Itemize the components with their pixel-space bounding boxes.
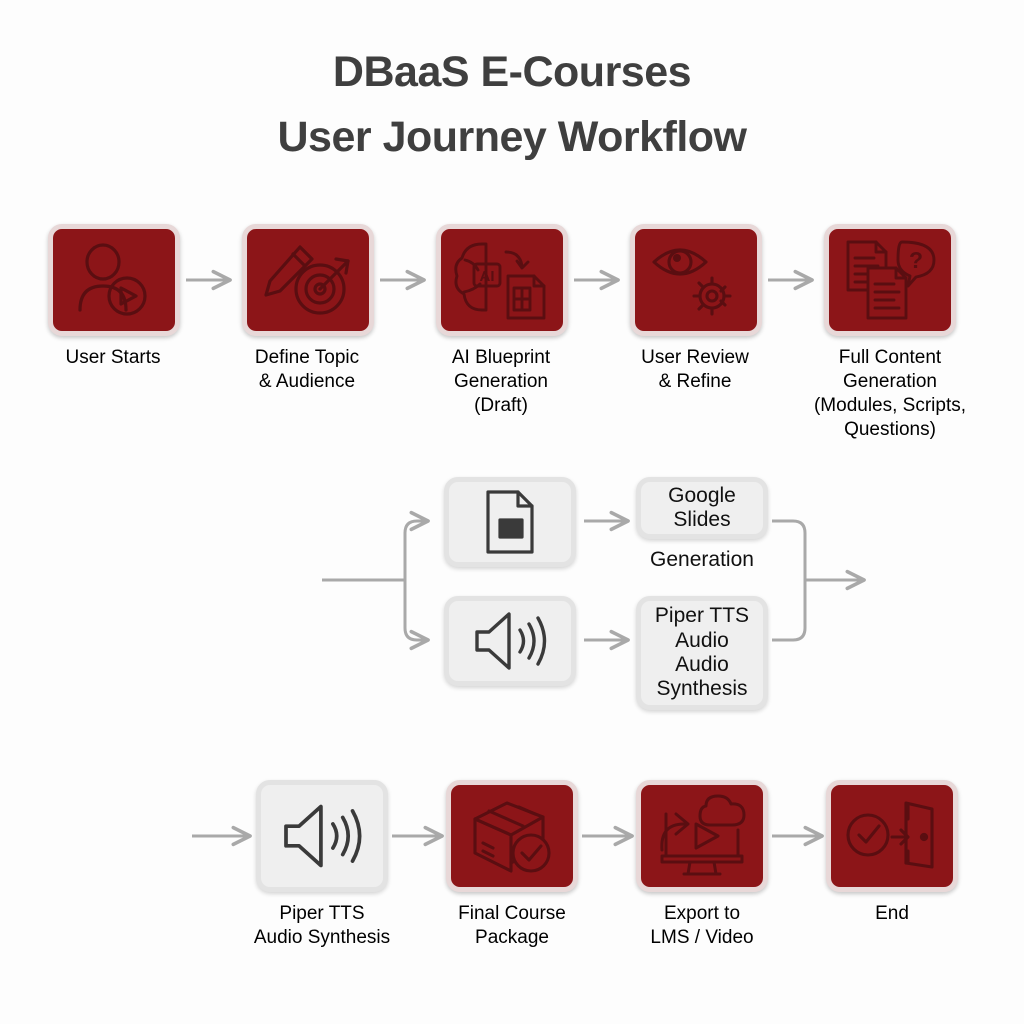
node-user-starts[interactable] xyxy=(48,224,180,336)
node-user-review[interactable] xyxy=(630,224,762,336)
label-piper-tts: Piper TTS Audio Synthesis xyxy=(212,902,432,950)
node-define-topic[interactable] xyxy=(242,224,374,336)
svg-text:?: ? xyxy=(909,247,923,273)
node-final-package[interactable] xyxy=(446,780,578,892)
box-check-icon xyxy=(467,795,557,877)
node-slides-icon[interactable] xyxy=(444,477,576,567)
label-end: End xyxy=(792,902,992,926)
label-piper-tts-audio: Piper TTS Audio Audio Synthesis xyxy=(647,604,757,701)
label-user-starts: User Starts xyxy=(13,346,213,370)
wire-merge xyxy=(772,521,805,640)
label-google-slides: Google Slides xyxy=(647,484,757,533)
label-google-slides-overflow: Generation xyxy=(620,548,784,572)
label-full-content: Full Content Generation (Modules, Script… xyxy=(789,346,991,442)
label-define-topic: Define Topic & Audience xyxy=(207,346,407,394)
user-play-icon xyxy=(70,240,158,320)
node-full-content[interactable]: ? xyxy=(824,224,956,336)
documents-question-icon: ? xyxy=(842,238,938,322)
wire-split-lower xyxy=(405,580,426,640)
node-piper-tts-audio[interactable]: Piper TTS Audio Audio Synthesis xyxy=(636,596,768,710)
monitor-cloud-share-icon xyxy=(654,794,750,878)
pencil-target-icon xyxy=(262,239,354,321)
label-user-review: User Review & Refine xyxy=(595,346,795,394)
check-door-exit-icon xyxy=(846,797,938,875)
node-end[interactable] xyxy=(826,780,958,892)
slides-document-icon xyxy=(480,488,540,556)
node-google-slides[interactable]: Google Slides xyxy=(636,477,768,539)
svg-text:AI: AI xyxy=(480,268,495,285)
speaker-waves-icon xyxy=(279,800,365,872)
label-ai-blueprint: AI Blueprint Generation (Draft) xyxy=(401,346,601,418)
node-audio-icon[interactable] xyxy=(444,596,576,686)
page-title-line2: User Journey Workflow xyxy=(0,113,1024,162)
node-ai-blueprint[interactable]: AI xyxy=(436,224,568,336)
diagram-canvas: DBaaS E-Courses User Journey Workflow xyxy=(0,0,1024,1024)
speaker-waves-icon xyxy=(471,608,549,674)
node-piper-tts[interactable] xyxy=(256,780,388,892)
label-final-package: Final Course Package xyxy=(412,902,612,950)
brain-ai-document-icon: AI xyxy=(452,238,552,322)
page-title-line1: DBaaS E-Courses xyxy=(0,48,1024,97)
node-export-lms[interactable] xyxy=(636,780,768,892)
wire-split-upper xyxy=(405,521,426,580)
eye-gear-icon xyxy=(650,238,742,322)
label-export-lms: Export to LMS / Video xyxy=(602,902,802,950)
